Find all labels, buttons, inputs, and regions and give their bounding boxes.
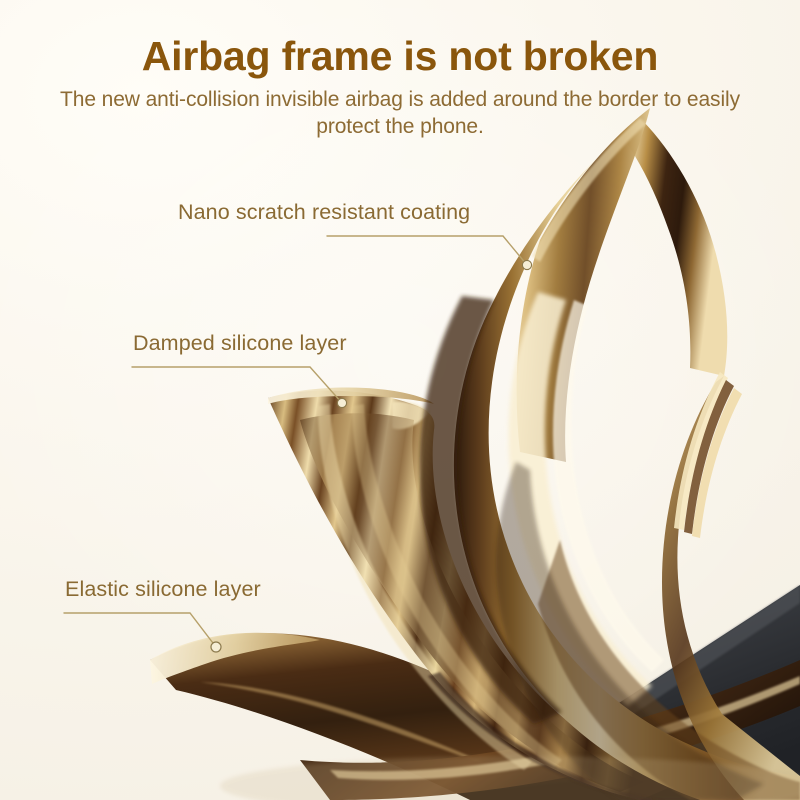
subtitle-line-1: The new anti-collision invisible airbag …: [10, 86, 790, 113]
leader-line-nano: [327, 236, 527, 265]
marker-dot-elastic: [211, 642, 221, 652]
product-infographic: Airbag frame is not broken The new anti-…: [0, 0, 800, 800]
callout-label-nano-scratch-resistant-coating: Nano scratch resistant coating: [178, 200, 470, 225]
subtitle-line-2: protect the phone.: [10, 113, 790, 140]
callout-label-damped-silicone-layer: Damped silicone layer: [133, 331, 347, 356]
leader-line-elastic: [64, 613, 216, 647]
marker-dot-damped: [337, 398, 346, 407]
marker-dot-nano: [522, 260, 531, 269]
page-title: Airbag frame is not broken: [0, 33, 800, 80]
leader-line-damped: [132, 367, 342, 403]
callout-label-elastic-silicone-layer: Elastic silicone layer: [65, 577, 261, 602]
